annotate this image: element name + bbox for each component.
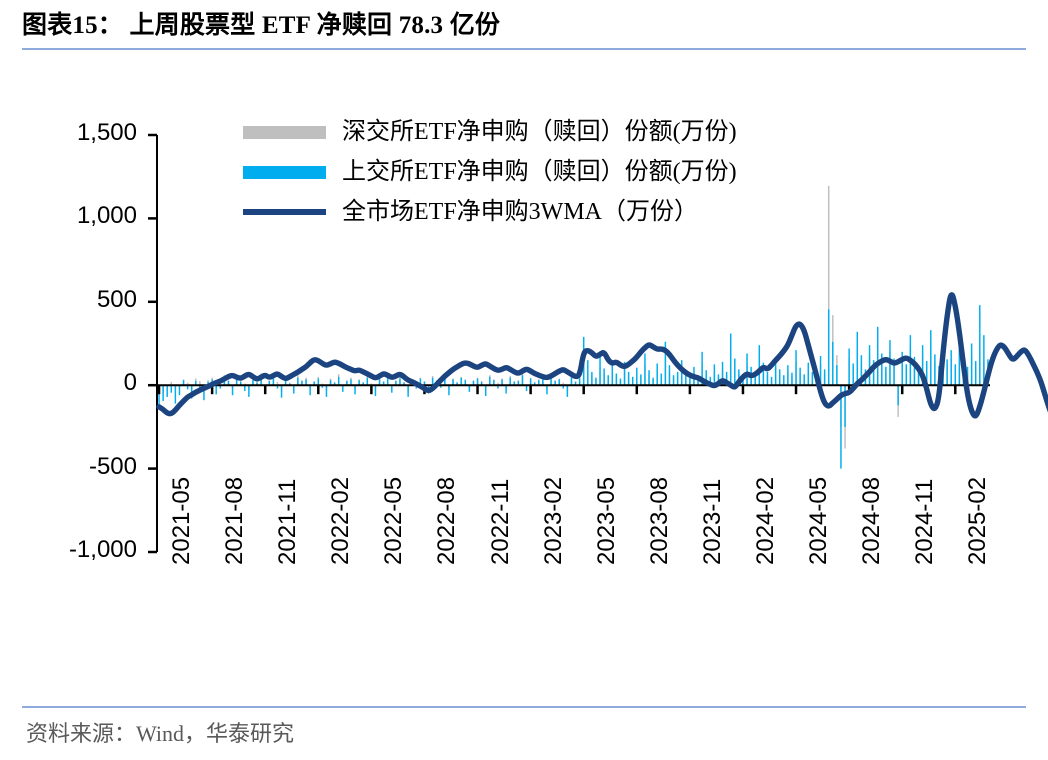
bar — [469, 385, 470, 392]
x-axis-tick-label: 2021-05 — [168, 477, 196, 565]
bar — [656, 364, 657, 386]
bar — [530, 379, 531, 386]
x-axis-tick-label: 2023-08 — [646, 477, 674, 565]
bar — [399, 379, 400, 386]
bar — [354, 385, 355, 394]
page-title: 图表15： 上周股票型 ETF 净赎回 78.3 亿份 — [22, 10, 1026, 42]
chart-title-bar: 图表15： 上周股票型 ETF 净赎回 78.3 亿份 — [22, 10, 1026, 46]
bar — [771, 377, 772, 385]
bar — [162, 385, 163, 401]
bar — [730, 333, 731, 385]
bar — [714, 364, 715, 385]
x-axis-tick-label: 2023-05 — [593, 477, 621, 565]
chart-page: 图表15： 上周股票型 ETF 净赎回 78.3 亿份 深交所ETF净申购（赎回… — [0, 0, 1048, 760]
bar — [522, 375, 523, 385]
bar — [628, 372, 629, 385]
bar — [579, 379, 580, 386]
bar — [509, 378, 510, 386]
bar — [297, 378, 298, 386]
bar — [832, 342, 833, 385]
legend-item-shanghai: 上交所ETF净申购（赎回）份额(万份) — [243, 158, 737, 186]
legend-label-shanghai: 上交所ETF净申购（赎回）份额(万份) — [342, 159, 737, 185]
bar — [767, 372, 768, 385]
bar — [759, 345, 760, 385]
bar — [955, 364, 956, 385]
bar — [571, 378, 572, 386]
y-axis-tick-label: 1,500 — [17, 119, 137, 147]
bar — [669, 365, 670, 385]
bar — [971, 344, 972, 386]
bar — [812, 372, 813, 385]
y-axis-tick-label: 1,000 — [17, 202, 137, 230]
y-axis-tick-label: 0 — [17, 369, 137, 397]
bar — [640, 374, 641, 385]
bar — [175, 385, 176, 403]
bar — [795, 350, 796, 385]
bar — [869, 345, 870, 385]
bar — [607, 375, 608, 385]
bar — [432, 378, 433, 386]
bar — [179, 385, 180, 395]
bar — [950, 350, 951, 385]
bar — [848, 349, 849, 386]
x-axis-tick-label: 2024-08 — [858, 477, 886, 565]
x-axis-tick-label: 2024-05 — [805, 477, 833, 565]
bar — [979, 305, 980, 385]
bar — [636, 368, 637, 386]
bar — [505, 385, 506, 393]
bar — [783, 375, 784, 385]
legend-item-wma: 全市场ETF净申购3WMA（万份） — [243, 198, 737, 226]
bar — [885, 367, 886, 385]
bar — [799, 368, 800, 386]
bar — [689, 378, 690, 386]
x-axis-tick-label: 2021-11 — [274, 479, 302, 565]
bar — [273, 379, 274, 386]
bar — [603, 369, 604, 386]
bar — [599, 357, 600, 385]
bar — [877, 327, 878, 385]
bar — [485, 385, 486, 396]
bar — [309, 385, 310, 395]
bar — [779, 369, 780, 385]
bar — [338, 377, 339, 385]
bar — [661, 374, 662, 386]
bar — [326, 385, 327, 397]
bar — [677, 372, 678, 385]
bar — [166, 385, 167, 397]
x-axis-tick-label: 2022-11 — [487, 479, 515, 565]
line-wma — [159, 295, 1048, 429]
x-axis-tick-label: 2024-11 — [911, 479, 939, 565]
bar — [734, 359, 735, 386]
bar — [808, 363, 809, 386]
bar — [934, 354, 935, 385]
x-axis-tick-label: 2022-02 — [327, 477, 355, 565]
bar — [595, 378, 596, 386]
bar — [791, 373, 792, 386]
bar — [281, 385, 282, 398]
bar — [906, 364, 907, 385]
legend-item-shenzhen: 深交所ETF净申购（赎回）份额(万份) — [243, 118, 737, 146]
y-axis-tick-label: -500 — [17, 453, 137, 481]
bar — [367, 378, 368, 386]
legend-swatch-wma — [243, 209, 326, 215]
bar — [616, 374, 617, 386]
bar — [342, 385, 343, 392]
bar — [897, 385, 898, 405]
bar — [836, 365, 837, 385]
source-note: 资料来源：Wind，华泰研究 — [26, 716, 294, 748]
bar — [407, 385, 408, 397]
bar — [546, 385, 547, 394]
x-axis-tick-label: 2022-05 — [380, 477, 408, 565]
legend-label-wma: 全市场ETF净申购3WMA（万份） — [342, 199, 698, 225]
bar — [460, 378, 461, 386]
legend-swatch-shanghai — [243, 166, 326, 179]
bar — [620, 379, 621, 386]
bar — [983, 335, 984, 385]
chart-container: 深交所ETF净申购（赎回）份额(万份) 上交所ETF净申购（赎回）份额(万份) … — [0, 58, 1048, 688]
bar — [632, 377, 633, 385]
bar — [489, 377, 490, 385]
bar — [673, 375, 674, 385]
legend-swatch-shenzhen — [243, 126, 326, 139]
title-divider — [22, 48, 1026, 50]
bar — [318, 379, 319, 386]
bar — [824, 369, 825, 385]
bar — [857, 332, 858, 385]
bar — [248, 385, 249, 397]
bar — [930, 330, 931, 385]
bar — [477, 379, 478, 386]
bar — [946, 359, 947, 385]
bar — [828, 309, 829, 385]
bar — [232, 385, 233, 395]
bar — [787, 365, 788, 385]
bars-shanghai — [158, 305, 988, 468]
bar — [852, 364, 853, 386]
bar — [587, 360, 588, 385]
x-axis-tick-label: 2021-08 — [221, 477, 249, 565]
x-axis-tick-label: 2023-11 — [699, 479, 727, 565]
chart-legend: 深交所ETF净申购（赎回）份额(万份) 上交所ETF净申购（赎回）份额(万份) … — [243, 118, 737, 226]
x-axis-tick-label: 2025-02 — [964, 477, 992, 565]
bar — [648, 370, 649, 385]
bar — [591, 372, 592, 385]
bar — [803, 374, 804, 385]
bar — [215, 385, 216, 394]
x-axis-tick-label: 2022-08 — [433, 477, 461, 565]
bar — [975, 361, 976, 385]
bar — [448, 385, 449, 395]
y-axis-tick-label: -1,000 — [17, 536, 137, 564]
bar — [171, 385, 172, 393]
bar — [293, 385, 294, 393]
footer-divider — [22, 706, 1026, 708]
x-axis-tick-label: 2024-02 — [752, 477, 780, 565]
bar — [567, 385, 568, 397]
y-axis-tick-label: 500 — [17, 286, 137, 314]
bar — [644, 354, 645, 386]
bar — [391, 385, 392, 393]
bar — [652, 378, 653, 386]
legend-label-shenzhen: 深交所ETF净申购（赎回）份额(万份) — [342, 119, 737, 145]
bar — [375, 385, 376, 396]
x-axis-tick-label: 2023-02 — [540, 477, 568, 565]
bar — [746, 354, 747, 386]
bar — [612, 365, 613, 385]
